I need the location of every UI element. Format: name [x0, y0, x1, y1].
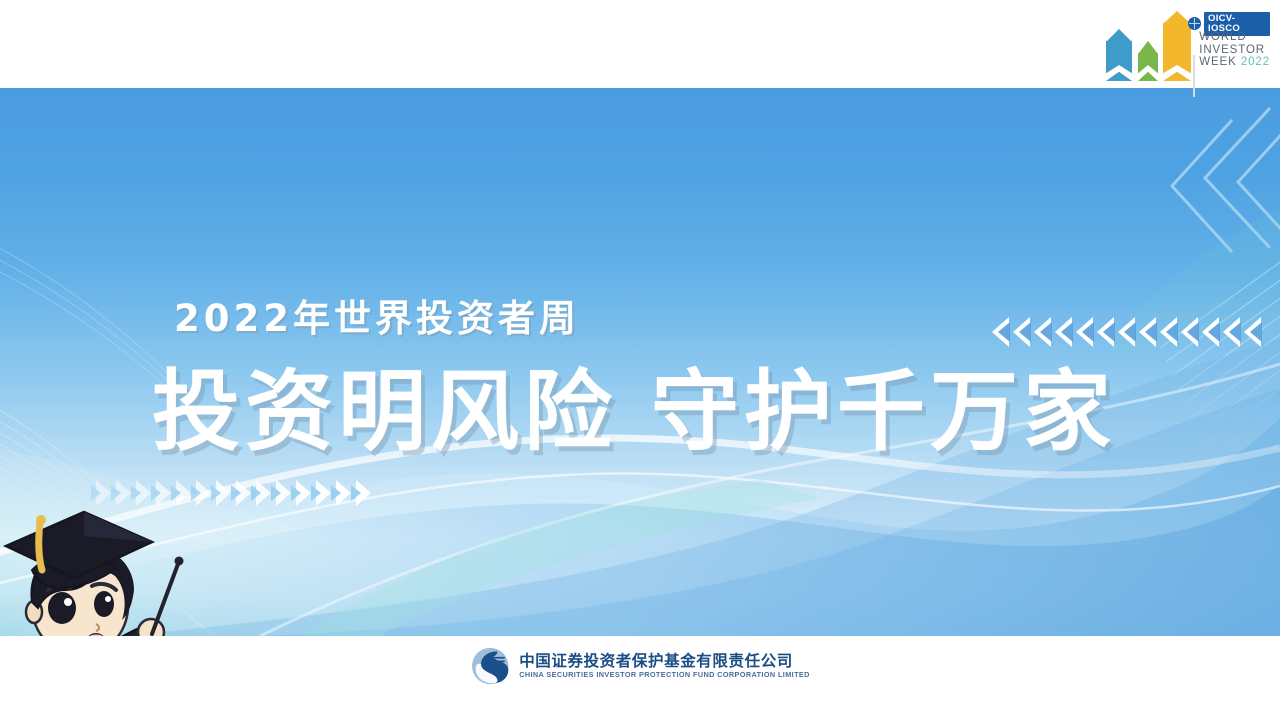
- pencil-blue-icon: [1106, 29, 1132, 81]
- chevron-icon: [1034, 317, 1052, 347]
- csipf-logo: 中国证券投资者保护基金有限责任公司 CHINA SECURITIES INVES…: [470, 646, 810, 686]
- headline-left: 投资明风险: [152, 360, 617, 463]
- chevron-icon: [1055, 317, 1073, 347]
- chevron-icon: [216, 480, 232, 506]
- chevron-icon: [356, 480, 372, 506]
- wiw-line-world: WORLD: [1199, 31, 1270, 44]
- pointer-stick: [152, 564, 178, 634]
- poster-slide: OICV-IOSCO WORLD INVESTOR WEEK 2022: [0, 0, 1280, 719]
- chevron-icon: [1202, 317, 1220, 347]
- pointer-tip: [175, 557, 184, 566]
- chevron-strip-left-pointing: [992, 317, 1262, 347]
- wiw-divider: [1193, 55, 1195, 97]
- csipf-name-cn: 中国证券投资者保护基金有限责任公司: [519, 654, 810, 670]
- wiw-year: 2022: [1241, 56, 1270, 68]
- wiw-line-investor: INVESTOR: [1199, 44, 1270, 57]
- pencil-yellow-icon: [1163, 11, 1191, 81]
- poster-headline: 投资明风险守护千万家: [152, 364, 1116, 459]
- chevron-icon: [1097, 317, 1115, 347]
- chevron-icon: [1139, 317, 1157, 347]
- poster-kicker: 2022年世界投资者周: [174, 300, 580, 337]
- top-white-bar: OICV-IOSCO WORLD INVESTOR WEEK 2022: [0, 0, 1280, 88]
- headline-right: 守护千万家: [651, 360, 1116, 463]
- chevron-icon: [276, 480, 292, 506]
- pencil-green-icon: [1138, 41, 1158, 81]
- chevron-icon: [1181, 317, 1199, 347]
- chevron-icon: [1076, 317, 1094, 347]
- chevron-icon: [1244, 317, 1262, 347]
- wiw-wordmark: OICV-IOSCO WORLD INVESTOR WEEK 2022: [1188, 5, 1270, 83]
- wiw-line-week: WEEK: [1199, 56, 1236, 68]
- chevron-icon: [296, 480, 312, 506]
- globe-icon: [1188, 17, 1201, 30]
- chevron-icon: [1160, 317, 1178, 347]
- pencils-icon: [1100, 5, 1184, 83]
- chevron-icon: [316, 480, 332, 506]
- mascot-tassel: [39, 522, 42, 570]
- chevron-icon: [1013, 317, 1031, 347]
- mascot-cap-board: [6, 512, 152, 578]
- csipf-text-block: 中国证券投资者保护基金有限责任公司 CHINA SECURITIES INVES…: [519, 654, 810, 679]
- mascot-eye-left: [48, 592, 76, 624]
- mascot-eye-right: [94, 591, 114, 617]
- chevron-icon: [1223, 317, 1241, 347]
- chevron-icon: [336, 480, 352, 506]
- chevron-icon: [992, 317, 1010, 347]
- bottom-white-bar: 中国证券投资者保护基金有限责任公司 CHINA SECURITIES INVES…: [0, 636, 1280, 719]
- wiw-text-block: WORLD INVESTOR WEEK 2022: [1199, 31, 1270, 69]
- world-investor-week-logo: OICV-IOSCO WORLD INVESTOR WEEK 2022: [1100, 4, 1270, 84]
- csipf-emblem-icon: [470, 646, 510, 686]
- chevron-icon: [236, 480, 252, 506]
- chevron-icon: [256, 480, 272, 506]
- chevron-icon: [1118, 317, 1136, 347]
- csipf-name-en: CHINA SECURITIES INVESTOR PROTECTION FUN…: [519, 671, 810, 678]
